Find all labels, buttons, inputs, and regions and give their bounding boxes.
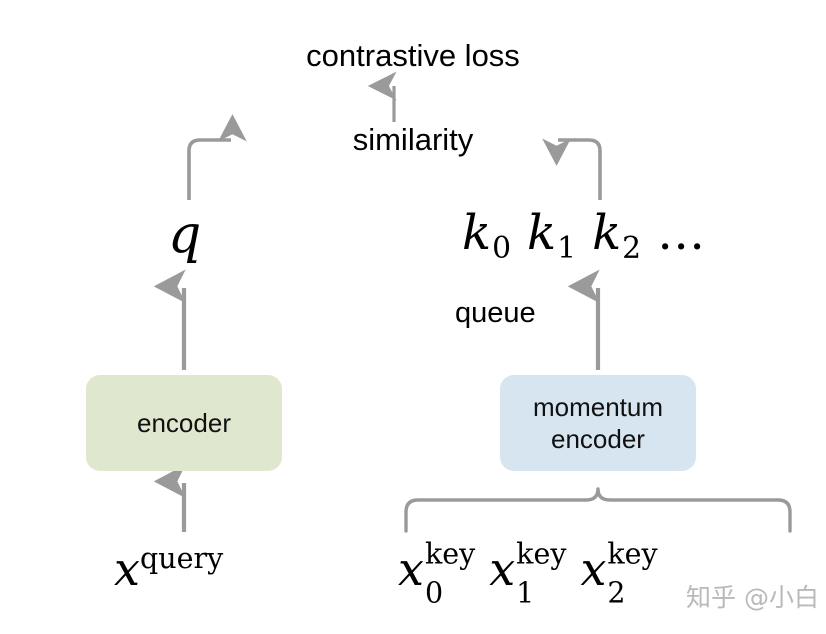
x2-key-superscript: key — [607, 540, 657, 569]
x-query-superscript: query — [140, 542, 223, 575]
encoder-box[interactable]: encoder — [86, 375, 282, 471]
contrastive-loss-label: contrastive loss — [0, 38, 826, 74]
k0-symbol: k0 — [462, 206, 511, 266]
k2-symbol: k2 — [592, 206, 641, 266]
momentum-encoder-box[interactable]: momentumencoder — [500, 375, 696, 471]
k1-subscript: 1 — [557, 231, 576, 266]
x0-key-symbol: xkey0 — [398, 543, 475, 619]
momentum-encoder-line1: momentum — [533, 392, 663, 422]
x0-key-scripts: key0 — [425, 565, 475, 622]
watermark: 知乎 @小白 — [686, 578, 819, 614]
x1-key-superscript: key — [516, 540, 566, 569]
key-inputs-brace — [406, 489, 790, 531]
k2-base: k — [592, 205, 621, 261]
momentum-encoder-box-label: momentumencoder — [533, 391, 663, 456]
x-query-symbol: xquery — [114, 543, 223, 596]
x0-key-base: x — [398, 542, 424, 596]
x-query-base: x — [114, 542, 140, 596]
key-symbols-row: k0 k1 k2 … — [462, 206, 707, 266]
x2-key-symbol: xkey2 — [580, 543, 657, 619]
x1-key-subscript: 1 — [516, 579, 534, 608]
k0-base: k — [462, 205, 491, 261]
k2-subscript: 2 — [622, 231, 641, 266]
k0-subscript: 0 — [492, 231, 511, 266]
x2-key-scripts: key2 — [607, 565, 657, 622]
x0-key-superscript: key — [425, 540, 475, 569]
momentum-encoder-line2: encoder — [551, 424, 645, 454]
x1-key-symbol: xkey1 — [489, 543, 566, 619]
x2-key-subscript: 2 — [607, 579, 625, 608]
x1-key-scripts: key1 — [516, 565, 566, 622]
x0-key-subscript: 0 — [425, 579, 443, 608]
k1-symbol: k1 — [527, 206, 576, 266]
x2-key-base: x — [580, 542, 606, 596]
q-symbol: q — [168, 206, 201, 266]
diagram-vector-layer — [0, 0, 826, 634]
x-key-symbols-row: xkey0 xkey1 xkey2 — [398, 543, 658, 619]
x1-key-base: x — [489, 542, 515, 596]
similarity-label: similarity — [0, 122, 826, 158]
k1-base: k — [527, 205, 556, 261]
encoder-box-label: encoder — [137, 407, 231, 440]
queue-label: queue — [455, 297, 536, 330]
moco-architecture-diagram: contrastive loss similarity queue q k0 k… — [0, 0, 826, 634]
keys-ellipsis: … — [657, 206, 707, 261]
